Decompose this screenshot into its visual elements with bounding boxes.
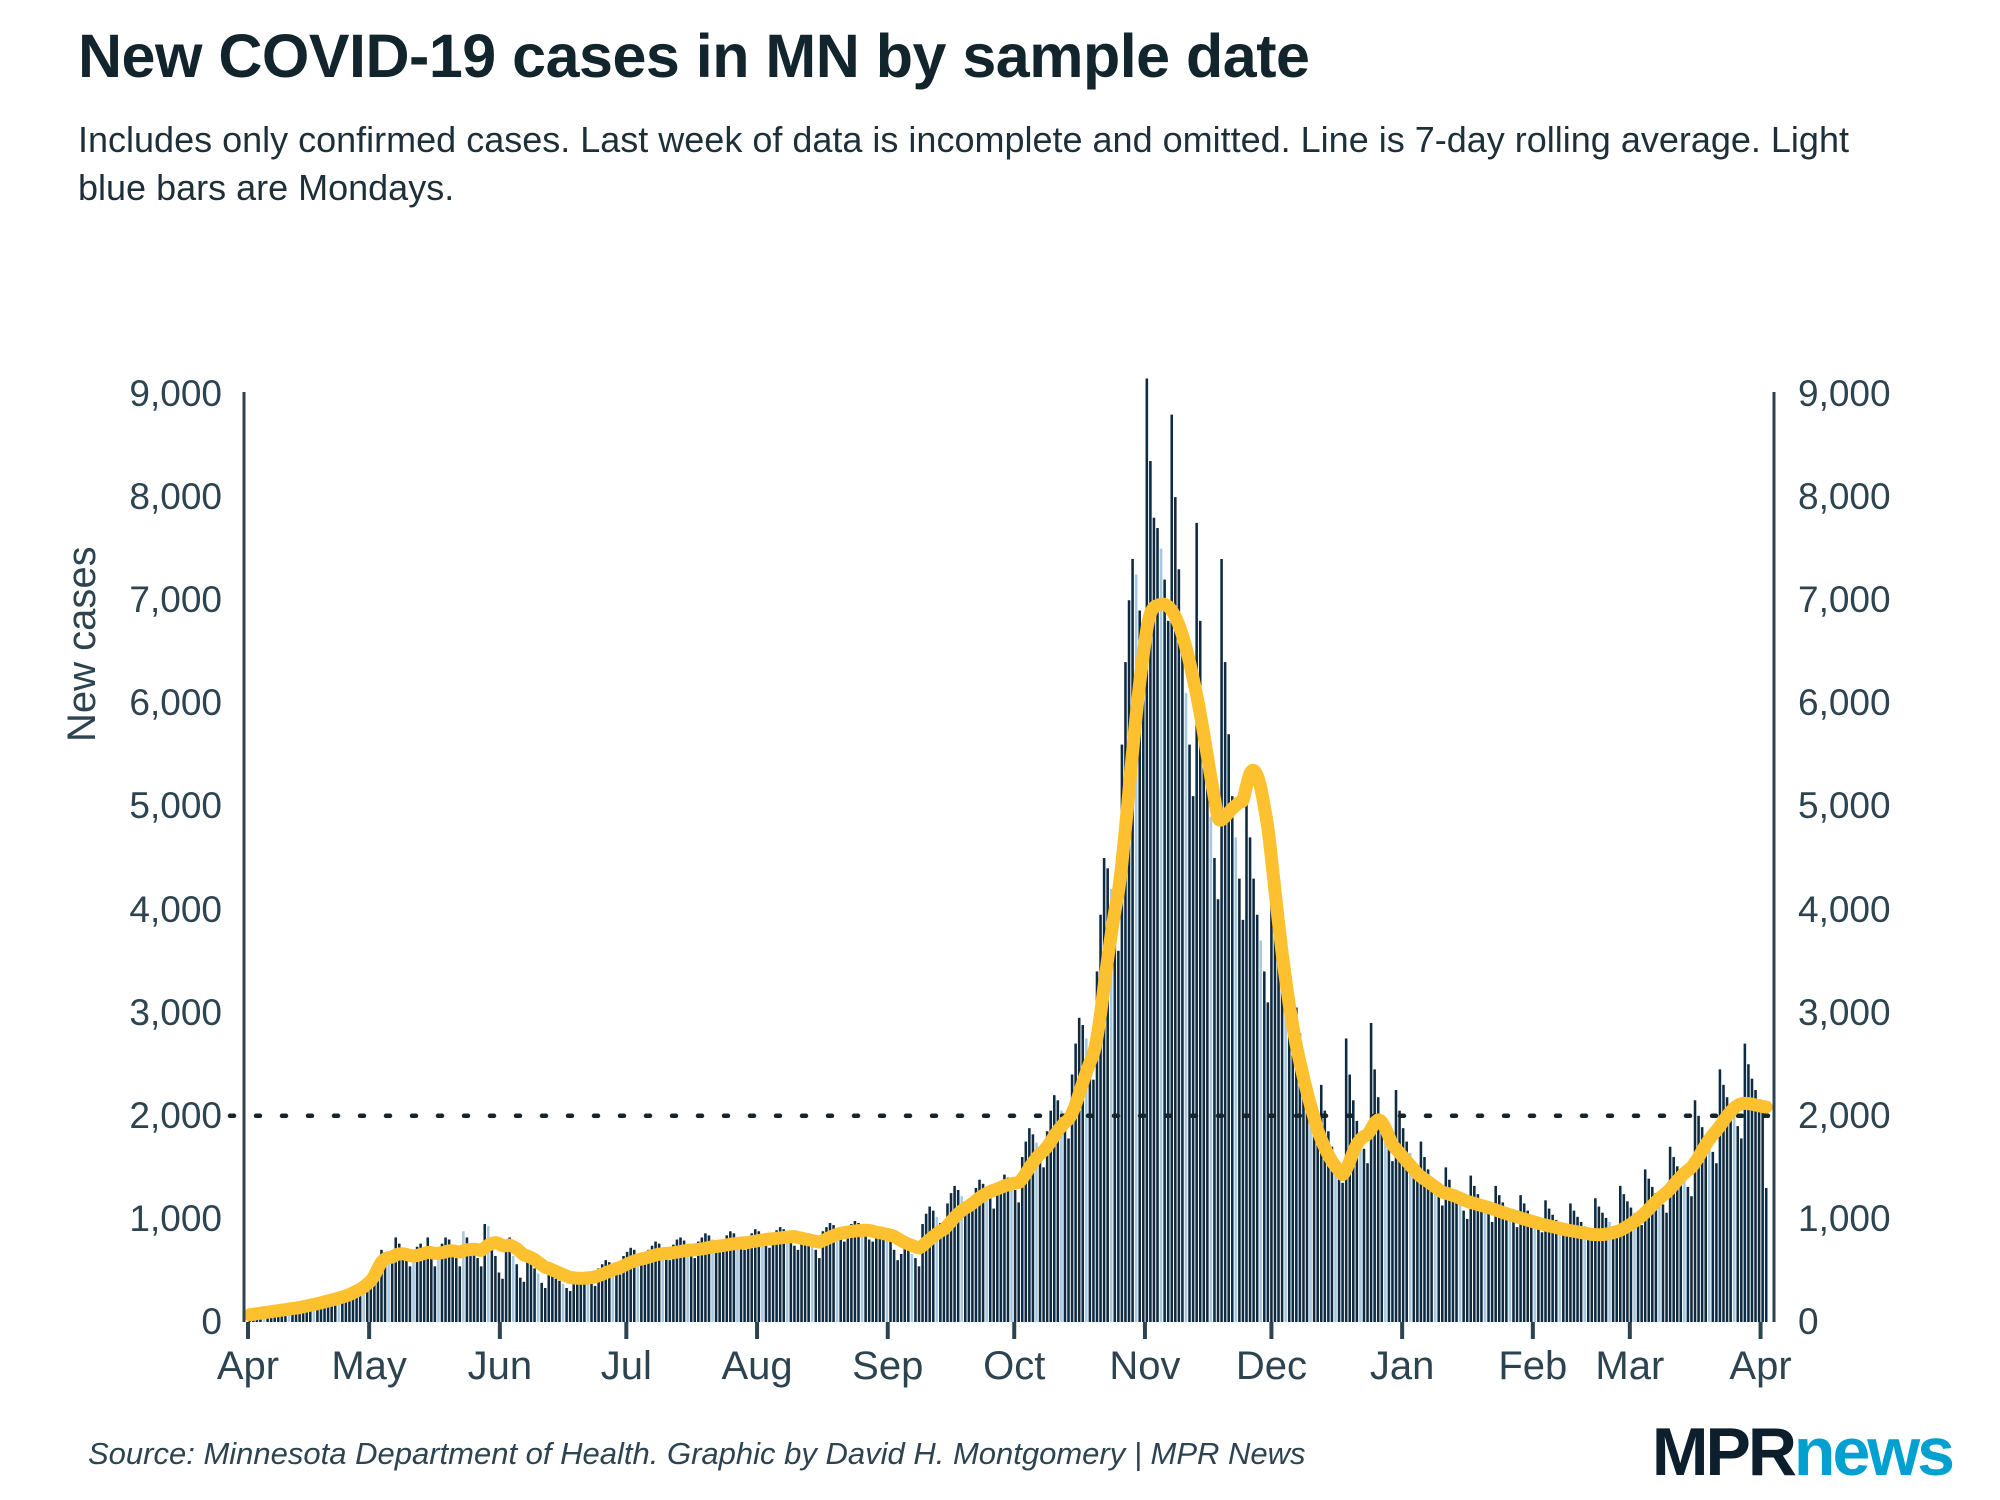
bar-day	[523, 1282, 526, 1322]
bar-day	[793, 1246, 796, 1322]
bar-day	[1356, 1121, 1359, 1322]
bar-day	[1562, 1229, 1565, 1322]
bar-day	[466, 1237, 469, 1322]
bar-day	[1594, 1198, 1597, 1322]
bar-day	[1370, 1023, 1373, 1322]
bar-day	[814, 1250, 817, 1322]
bar-monday	[1459, 1204, 1462, 1322]
bar-day	[1138, 611, 1141, 1322]
bar-day	[1373, 1069, 1376, 1322]
bar-day	[704, 1233, 707, 1322]
bar-day	[1676, 1166, 1679, 1322]
bar-day	[701, 1237, 704, 1322]
bar-monday	[985, 1190, 988, 1322]
bar-monday	[1334, 1159, 1337, 1322]
bar-day	[871, 1242, 874, 1322]
bar-day	[377, 1264, 380, 1322]
x-tick-label: Jan	[1370, 1346, 1435, 1386]
y-tick-label-left: 5,000	[129, 787, 222, 824]
bar-day	[1320, 1085, 1323, 1322]
bar-day	[992, 1209, 995, 1322]
bar-day	[323, 1301, 326, 1322]
bar-monday	[1085, 1038, 1088, 1322]
bar-day	[249, 1316, 252, 1322]
bar-day	[907, 1250, 910, 1322]
bar-day	[1032, 1134, 1035, 1322]
page-title: New COVID-19 cases in MN by sample date	[78, 24, 1928, 90]
bar-day	[1477, 1194, 1480, 1322]
bar-monday	[1384, 1134, 1387, 1322]
bar-day	[1452, 1189, 1455, 1322]
bar-day	[476, 1258, 479, 1322]
bar-monday	[1259, 940, 1262, 1322]
bar-monday	[661, 1248, 664, 1322]
bar-day	[1096, 971, 1099, 1322]
bar-day	[327, 1300, 330, 1322]
bar-day	[1494, 1186, 1497, 1322]
bar-day	[1003, 1175, 1006, 1322]
bar-day	[1637, 1218, 1640, 1322]
bar-day	[1146, 379, 1149, 1322]
y-tick-label-right: 8,000	[1798, 478, 1891, 515]
bar-day	[1398, 1111, 1401, 1322]
bar-day	[1644, 1169, 1647, 1322]
bar-day	[1626, 1201, 1629, 1322]
bar-day	[1007, 1178, 1010, 1322]
bar-monday	[313, 1303, 316, 1322]
bar-day	[1277, 910, 1280, 1322]
bar-day	[1153, 518, 1156, 1322]
plot-canvas	[0, 0, 2000, 1500]
bar-day	[1523, 1203, 1526, 1322]
bar-day	[729, 1231, 732, 1322]
bar-day	[1131, 559, 1134, 1322]
x-tick-label: Nov	[1109, 1346, 1180, 1386]
bar-monday	[1633, 1213, 1636, 1322]
bar-day	[1555, 1220, 1558, 1322]
bar-monday	[1160, 549, 1163, 1322]
bar-day	[370, 1283, 373, 1322]
bar-day	[1662, 1204, 1665, 1322]
bar-day	[775, 1230, 778, 1322]
bar-day	[854, 1221, 857, 1322]
y-tick-label-right: 0	[1798, 1303, 1819, 1340]
bar-day	[1049, 1111, 1052, 1322]
bar-monday	[936, 1217, 939, 1322]
bar-day	[1512, 1220, 1515, 1322]
bar-monday	[412, 1259, 415, 1322]
bar-day	[1227, 734, 1230, 1322]
bar-day	[1623, 1194, 1626, 1322]
bar-day	[1640, 1225, 1643, 1322]
bar-day	[569, 1291, 572, 1322]
bar-day	[1249, 837, 1252, 1322]
bar-day	[957, 1190, 960, 1322]
bar-day	[1114, 910, 1117, 1322]
bar-day	[914, 1258, 917, 1322]
bar-day	[797, 1250, 800, 1322]
bar-day	[1238, 879, 1241, 1322]
bar-day	[946, 1203, 949, 1322]
bar-day	[1430, 1180, 1433, 1322]
bar-day	[1121, 745, 1124, 1322]
bar-monday	[861, 1227, 864, 1322]
bar-day	[697, 1242, 700, 1322]
x-tick-label: Jun	[468, 1346, 533, 1386]
bar-day	[551, 1276, 554, 1322]
bar-day	[1541, 1232, 1544, 1322]
bar-day	[1092, 1080, 1095, 1322]
bar-day	[975, 1188, 978, 1322]
bar-day	[740, 1242, 743, 1322]
bar-day	[1352, 1100, 1355, 1322]
bar-day	[1754, 1090, 1757, 1322]
bar-day	[1576, 1217, 1579, 1322]
bar-day	[1615, 1232, 1618, 1322]
bar-day	[782, 1229, 785, 1322]
bar-day	[1363, 1149, 1366, 1322]
bar-day	[1099, 915, 1102, 1322]
bar-day	[1331, 1147, 1334, 1322]
bar-day	[1252, 879, 1255, 1322]
bar-day	[394, 1237, 397, 1322]
bar-day	[1163, 580, 1166, 1322]
bar-day	[1455, 1197, 1458, 1322]
bar-day	[1213, 858, 1216, 1322]
bar-day	[1217, 899, 1220, 1322]
bar-day	[1053, 1095, 1056, 1322]
bar-day	[1089, 1054, 1092, 1322]
bar-day	[1345, 1038, 1348, 1322]
bar-day	[1064, 1121, 1067, 1322]
bar-day	[850, 1224, 853, 1322]
bar-day	[1566, 1235, 1569, 1322]
bar-monday	[1608, 1222, 1611, 1322]
y-tick-label-right: 9,000	[1798, 375, 1891, 412]
bar-day	[665, 1252, 668, 1322]
bar-day	[1469, 1176, 1472, 1322]
y-axis-title: New cases	[60, 546, 105, 742]
bar-day	[1106, 868, 1109, 1322]
bar-day	[423, 1250, 426, 1322]
bar-day	[754, 1229, 757, 1322]
bar-day	[982, 1184, 985, 1322]
bar-day	[1302, 1064, 1305, 1322]
bar-day	[1680, 1174, 1683, 1322]
bar-day	[1480, 1201, 1483, 1322]
bar-day	[334, 1298, 337, 1322]
bar-day	[1402, 1128, 1405, 1322]
y-tick-label-right: 2,000	[1798, 1097, 1891, 1134]
bar-day	[1391, 1161, 1394, 1322]
bar-day	[1167, 621, 1170, 1322]
bar-day	[533, 1268, 536, 1322]
bar-day	[839, 1233, 842, 1322]
bar-day	[847, 1229, 850, 1322]
bar-day	[1466, 1219, 1469, 1322]
bar-monday	[1185, 693, 1188, 1322]
bar-day	[758, 1231, 761, 1322]
bar-day	[1701, 1127, 1704, 1322]
bar-day	[989, 1198, 992, 1322]
bar-day	[416, 1247, 419, 1322]
bar-day	[1295, 1008, 1298, 1322]
bar-day	[572, 1278, 575, 1322]
bar-day	[391, 1256, 394, 1322]
bar-day	[298, 1307, 301, 1322]
bar-day	[1292, 1023, 1295, 1322]
bar-monday	[1683, 1181, 1686, 1322]
bar-day	[473, 1244, 476, 1322]
bar-monday	[1708, 1145, 1711, 1322]
bar-day	[939, 1223, 942, 1322]
chart-header: New COVID-19 cases in MN by sample date …	[78, 24, 1928, 212]
bar-day	[281, 1311, 284, 1322]
bar-day	[1299, 1033, 1302, 1322]
bar-day	[555, 1279, 558, 1322]
bar-day	[882, 1231, 885, 1322]
bar-day	[1195, 523, 1198, 1322]
bar-monday	[1583, 1226, 1586, 1322]
bar-day	[1437, 1196, 1440, 1322]
bar-day	[722, 1240, 725, 1322]
bar-day	[1651, 1187, 1654, 1322]
bar-day	[1288, 992, 1291, 1322]
bar-day	[921, 1224, 924, 1322]
bar-day	[640, 1258, 643, 1322]
bar-day	[515, 1264, 518, 1322]
bar-day	[359, 1290, 362, 1322]
bar-day	[1395, 1090, 1398, 1322]
bar-day	[1178, 569, 1181, 1322]
bar-day	[1142, 683, 1145, 1322]
bar-day	[402, 1251, 405, 1322]
bar-day	[1025, 1142, 1028, 1322]
bar-day	[480, 1266, 483, 1322]
bar-day	[384, 1254, 387, 1322]
bar-day	[918, 1266, 921, 1322]
bar-day	[316, 1304, 319, 1322]
bar-day	[1327, 1131, 1330, 1322]
bar-day	[669, 1260, 672, 1322]
bar-day	[1313, 1121, 1316, 1322]
bar-day	[259, 1313, 262, 1322]
bar-day	[953, 1186, 956, 1322]
bar-day	[1103, 858, 1106, 1322]
bar-day	[829, 1223, 832, 1322]
bar-day	[1306, 1085, 1309, 1322]
bar-day	[1377, 1097, 1380, 1322]
chart-figure: New cases 9,0008,0007,0006,0005,0004,000…	[0, 0, 2000, 1500]
bar-day	[1690, 1196, 1693, 1322]
bar-day	[1156, 528, 1159, 1322]
bar-day	[444, 1237, 447, 1322]
bar-day	[1715, 1163, 1718, 1322]
bar-day	[818, 1258, 821, 1322]
bar-monday	[1284, 966, 1287, 1322]
x-tick-label: Apr	[217, 1346, 279, 1386]
bar-day	[1647, 1179, 1650, 1322]
bar-day	[544, 1288, 547, 1322]
bar-monday	[1309, 1105, 1312, 1322]
bar-day	[540, 1283, 543, 1322]
bar-day	[583, 1276, 586, 1322]
bar-day	[807, 1240, 810, 1322]
bar-day	[1605, 1218, 1608, 1322]
bar-day	[1192, 796, 1195, 1322]
bar-day	[1427, 1169, 1430, 1322]
bar-day	[715, 1244, 718, 1322]
y-tick-label-left: 1,000	[129, 1200, 222, 1237]
bar-monday	[1035, 1143, 1038, 1322]
bar-day	[1722, 1085, 1725, 1322]
bar-monday	[1110, 889, 1113, 1322]
bar-day	[1712, 1152, 1715, 1322]
bar-day	[1316, 1138, 1319, 1322]
bar-day	[1231, 796, 1234, 1322]
bar-day	[295, 1308, 298, 1322]
bar-day	[1046, 1131, 1049, 1322]
bar-day	[690, 1250, 693, 1322]
bar-day	[1462, 1211, 1465, 1322]
bar-day	[459, 1266, 462, 1322]
bar-monday	[811, 1244, 814, 1322]
y-tick-label-left: 7,000	[129, 581, 222, 618]
bar-day	[1687, 1187, 1690, 1322]
bar-day	[1206, 765, 1209, 1322]
bar-monday	[437, 1250, 440, 1322]
bar-day	[747, 1237, 750, 1322]
bar-day	[822, 1231, 825, 1322]
bar-day	[1548, 1209, 1551, 1322]
bar-day	[889, 1240, 892, 1322]
bar-day	[804, 1237, 807, 1322]
bar-day	[903, 1248, 906, 1322]
bar-series	[249, 379, 1768, 1322]
bar-day	[1601, 1213, 1604, 1322]
bar-day	[1502, 1202, 1505, 1322]
bar-day	[768, 1248, 771, 1322]
bar-day	[733, 1233, 736, 1322]
bar-day	[651, 1246, 654, 1322]
bar-day	[256, 1314, 259, 1322]
bar-monday	[1509, 1215, 1512, 1322]
bar-day	[1630, 1208, 1633, 1322]
bar-day	[1612, 1226, 1615, 1322]
bar-day	[772, 1234, 775, 1322]
bar-day	[1498, 1195, 1501, 1322]
bar-monday	[337, 1297, 340, 1322]
y-tick-label-left: 6,000	[129, 684, 222, 721]
bar-monday	[1434, 1188, 1437, 1322]
bar-day	[1758, 1100, 1761, 1322]
bar-day	[1071, 1075, 1074, 1322]
bar-monday	[1359, 1136, 1362, 1322]
logo-mpr-text: MPR	[1652, 1414, 1794, 1490]
bar-day	[1580, 1222, 1583, 1322]
bar-day	[1420, 1142, 1423, 1322]
bar-day	[896, 1260, 899, 1322]
bar-day	[1081, 1025, 1084, 1322]
y-tick-label-right: 5,000	[1798, 787, 1891, 824]
x-tick-label: Feb	[1498, 1346, 1567, 1386]
bar-day	[1057, 1100, 1060, 1322]
logo-news-text: news	[1794, 1414, 1952, 1490]
bar-day	[1655, 1193, 1658, 1322]
bar-day	[266, 1314, 269, 1322]
bar-day	[273, 1312, 276, 1322]
bar-day	[1199, 621, 1202, 1322]
bar-day	[1729, 1108, 1732, 1322]
bar-day	[498, 1273, 501, 1322]
bar-day	[971, 1198, 974, 1322]
bar-day	[743, 1250, 746, 1322]
bar-day	[693, 1258, 696, 1322]
bar-day	[373, 1279, 376, 1322]
bar-day	[1366, 1163, 1369, 1322]
bar-day	[548, 1273, 551, 1322]
bar-day	[800, 1244, 803, 1322]
x-tick-label: Dec	[1236, 1346, 1307, 1386]
bar-day	[1281, 940, 1284, 1322]
bar-day	[448, 1240, 451, 1322]
bar-day	[341, 1297, 344, 1322]
bar-day	[1530, 1216, 1533, 1322]
bar-day	[1014, 1190, 1017, 1322]
bar-day	[491, 1250, 494, 1322]
x-tick-label: Aug	[721, 1346, 792, 1386]
bar-day	[1380, 1118, 1383, 1322]
bar-monday	[288, 1309, 291, 1322]
bar-day	[1598, 1207, 1601, 1322]
bar-day	[580, 1273, 583, 1322]
y-tick-label-right: 4,000	[1798, 891, 1891, 928]
bar-monday	[1484, 1208, 1487, 1322]
bar-day	[1416, 1176, 1419, 1322]
bar-day	[843, 1242, 846, 1322]
bar-day	[455, 1258, 458, 1322]
bar-day	[1551, 1215, 1554, 1322]
bar-day	[252, 1315, 255, 1322]
bar-day	[505, 1244, 508, 1322]
y-tick-label-right: 7,000	[1798, 581, 1891, 618]
bar-day	[1445, 1167, 1448, 1322]
bar-day	[1736, 1126, 1739, 1322]
y-tick-label-left: 3,000	[129, 994, 222, 1031]
chart-subtitle: Includes only confirmed cases. Last week…	[78, 116, 1868, 212]
bar-day	[1220, 559, 1223, 1322]
bar-day	[1000, 1183, 1003, 1322]
bar-monday	[1060, 1111, 1063, 1322]
bar-monday	[387, 1261, 390, 1322]
bar-monday	[1558, 1224, 1561, 1322]
bar-day	[900, 1254, 903, 1322]
bar-day	[451, 1250, 454, 1322]
bar-monday	[1135, 574, 1138, 1322]
bar-day	[409, 1266, 412, 1322]
bar-day	[597, 1268, 600, 1322]
bar-day	[1405, 1142, 1408, 1322]
bar-day	[1021, 1157, 1024, 1322]
bar-day	[857, 1223, 860, 1322]
bar-day	[1747, 1064, 1750, 1322]
bar-day	[441, 1244, 444, 1322]
bar-monday	[587, 1279, 590, 1322]
bar-day	[1078, 1018, 1081, 1322]
bar-monday	[1235, 837, 1238, 1322]
bar-day	[1242, 920, 1245, 1322]
bar-day	[1516, 1227, 1519, 1322]
